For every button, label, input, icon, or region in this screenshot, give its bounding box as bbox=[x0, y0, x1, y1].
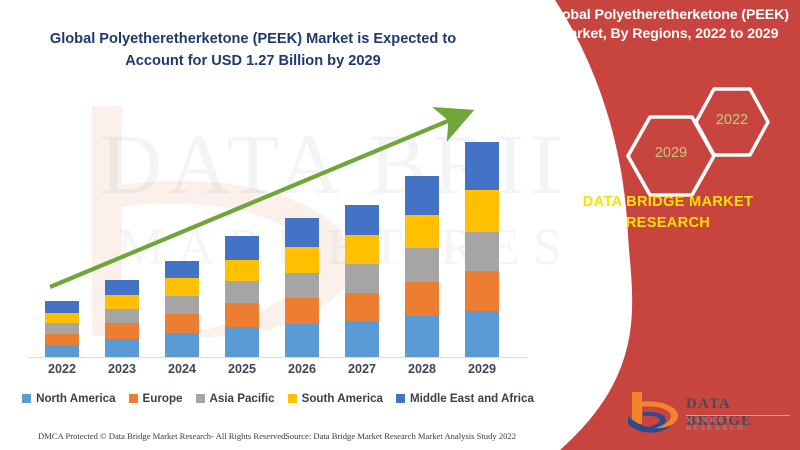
footer-source: Source: Data Bridge Market Research Mark… bbox=[285, 431, 516, 441]
footer-copyright: DMCA Protected © Data Bridge Market Rese… bbox=[38, 431, 288, 441]
bar-segment bbox=[465, 142, 499, 190]
bar-segment bbox=[105, 309, 139, 324]
legend-label: South America bbox=[302, 392, 383, 405]
x-axis-label-2023: 2023 bbox=[92, 362, 152, 376]
bar-segment bbox=[405, 316, 439, 357]
bar-segment bbox=[405, 248, 439, 282]
legend-swatch-icon bbox=[22, 394, 31, 403]
footer: DMCA Protected © Data Bridge Market Rese… bbox=[0, 428, 560, 448]
bar-segment bbox=[285, 247, 319, 273]
legend-swatch-icon bbox=[196, 394, 205, 403]
brand-name: DATA BRIDGE MARKET RESEARCH bbox=[542, 192, 794, 234]
bar-column-2023 bbox=[105, 280, 139, 357]
hexagon-group: 2022 2029 bbox=[615, 86, 800, 196]
bar-column-2029 bbox=[465, 142, 499, 357]
bar-segment bbox=[225, 236, 259, 260]
bar-column-2028 bbox=[405, 176, 439, 357]
hexagon-2029: 2029 bbox=[625, 114, 717, 198]
bar-column-2022 bbox=[45, 301, 79, 357]
bar-segment bbox=[105, 280, 139, 295]
bar-column-2025 bbox=[225, 236, 259, 357]
bar-segment bbox=[165, 314, 199, 334]
bar-segment bbox=[105, 295, 139, 309]
brand-panel: Global Polyetheretherketone (PEEK) Marke… bbox=[520, 0, 800, 450]
legend-item-asia-pacific[interactable]: Asia Pacific bbox=[196, 392, 275, 405]
bar-series-container bbox=[20, 100, 530, 357]
legend-swatch-icon bbox=[288, 394, 297, 403]
bar-segment bbox=[405, 176, 439, 215]
bar-segment bbox=[345, 293, 379, 322]
bar-segment bbox=[45, 301, 79, 313]
bar-segment bbox=[225, 260, 259, 281]
bar-segment bbox=[345, 321, 379, 357]
x-axis-label-2029: 2029 bbox=[452, 362, 512, 376]
bar-segment bbox=[465, 190, 499, 233]
bar-segment bbox=[45, 345, 79, 357]
bar-segment bbox=[345, 264, 379, 293]
legend-label: North America bbox=[36, 392, 115, 405]
bar-segment bbox=[45, 323, 79, 334]
hexagon-2029-label: 2029 bbox=[625, 145, 717, 161]
bar-segment bbox=[345, 235, 379, 264]
bar-column-2027 bbox=[345, 205, 379, 357]
page-title: Global Polyetheretherketone (PEEK) Marke… bbox=[38, 28, 468, 72]
x-axis-label-2024: 2024 bbox=[152, 362, 212, 376]
bar-column-2026 bbox=[285, 218, 319, 357]
bar-segment bbox=[45, 334, 79, 345]
bar-segment bbox=[105, 323, 139, 339]
data-bridge-logo-icon bbox=[626, 390, 684, 436]
bar-segment bbox=[165, 296, 199, 314]
legend-label: Asia Pacific bbox=[210, 392, 275, 405]
legend-item-south-america[interactable]: South America bbox=[288, 392, 383, 405]
legend-swatch-icon bbox=[129, 394, 138, 403]
legend-item-europe[interactable]: Europe bbox=[129, 392, 183, 405]
bar-segment bbox=[225, 281, 259, 303]
x-axis-line bbox=[28, 357, 528, 358]
bar-segment bbox=[285, 298, 319, 325]
bar-column-2024 bbox=[165, 261, 199, 357]
x-axis-tick-labels: 20222023202420252026202720282029 bbox=[20, 362, 530, 382]
legend-item-north-america[interactable]: North America bbox=[22, 392, 115, 405]
bar-segment bbox=[285, 324, 319, 357]
bar-segment bbox=[465, 311, 499, 357]
chart-legend: North AmericaEuropeAsia PacificSouth Ame… bbox=[18, 388, 538, 408]
panel-title: Global Polyetheretherketone (PEEK) Marke… bbox=[542, 6, 794, 44]
bar-segment bbox=[465, 232, 499, 271]
bar-segment bbox=[225, 327, 259, 357]
bar-segment bbox=[45, 313, 79, 324]
x-axis-label-2026: 2026 bbox=[272, 362, 332, 376]
bar-segment bbox=[465, 271, 499, 311]
bar-segment bbox=[285, 218, 319, 248]
legend-label: Europe bbox=[143, 392, 183, 405]
bar-segment bbox=[165, 333, 199, 357]
x-axis-label-2028: 2028 bbox=[392, 362, 452, 376]
x-axis-label-2027: 2027 bbox=[332, 362, 392, 376]
bar-segment bbox=[165, 261, 199, 278]
x-axis-label-2025: 2025 bbox=[212, 362, 272, 376]
bar-segment bbox=[345, 205, 379, 236]
chart-plot-area: 20222023202420252026202720282029 bbox=[20, 100, 530, 358]
legend-swatch-icon bbox=[396, 394, 405, 403]
logo-secondary-text: MARKET RESEARCH bbox=[686, 416, 796, 432]
bar-segment bbox=[165, 278, 199, 296]
bar-segment bbox=[105, 339, 139, 357]
bar-segment bbox=[405, 215, 439, 249]
infographic-canvas: DATA BRIDGE MARKET RESEARCH Global Polye… bbox=[0, 0, 800, 450]
bar-segment bbox=[225, 303, 259, 328]
bar-segment bbox=[405, 282, 439, 317]
bar-segment bbox=[285, 273, 319, 298]
brand-logo: DATA BRIDGE MARKET RESEARCH bbox=[626, 390, 796, 438]
x-axis-label-2022: 2022 bbox=[32, 362, 92, 376]
legend-item-middle-east-and-africa[interactable]: Middle East and Africa bbox=[396, 392, 534, 405]
legend-label: Middle East and Africa bbox=[410, 392, 534, 405]
